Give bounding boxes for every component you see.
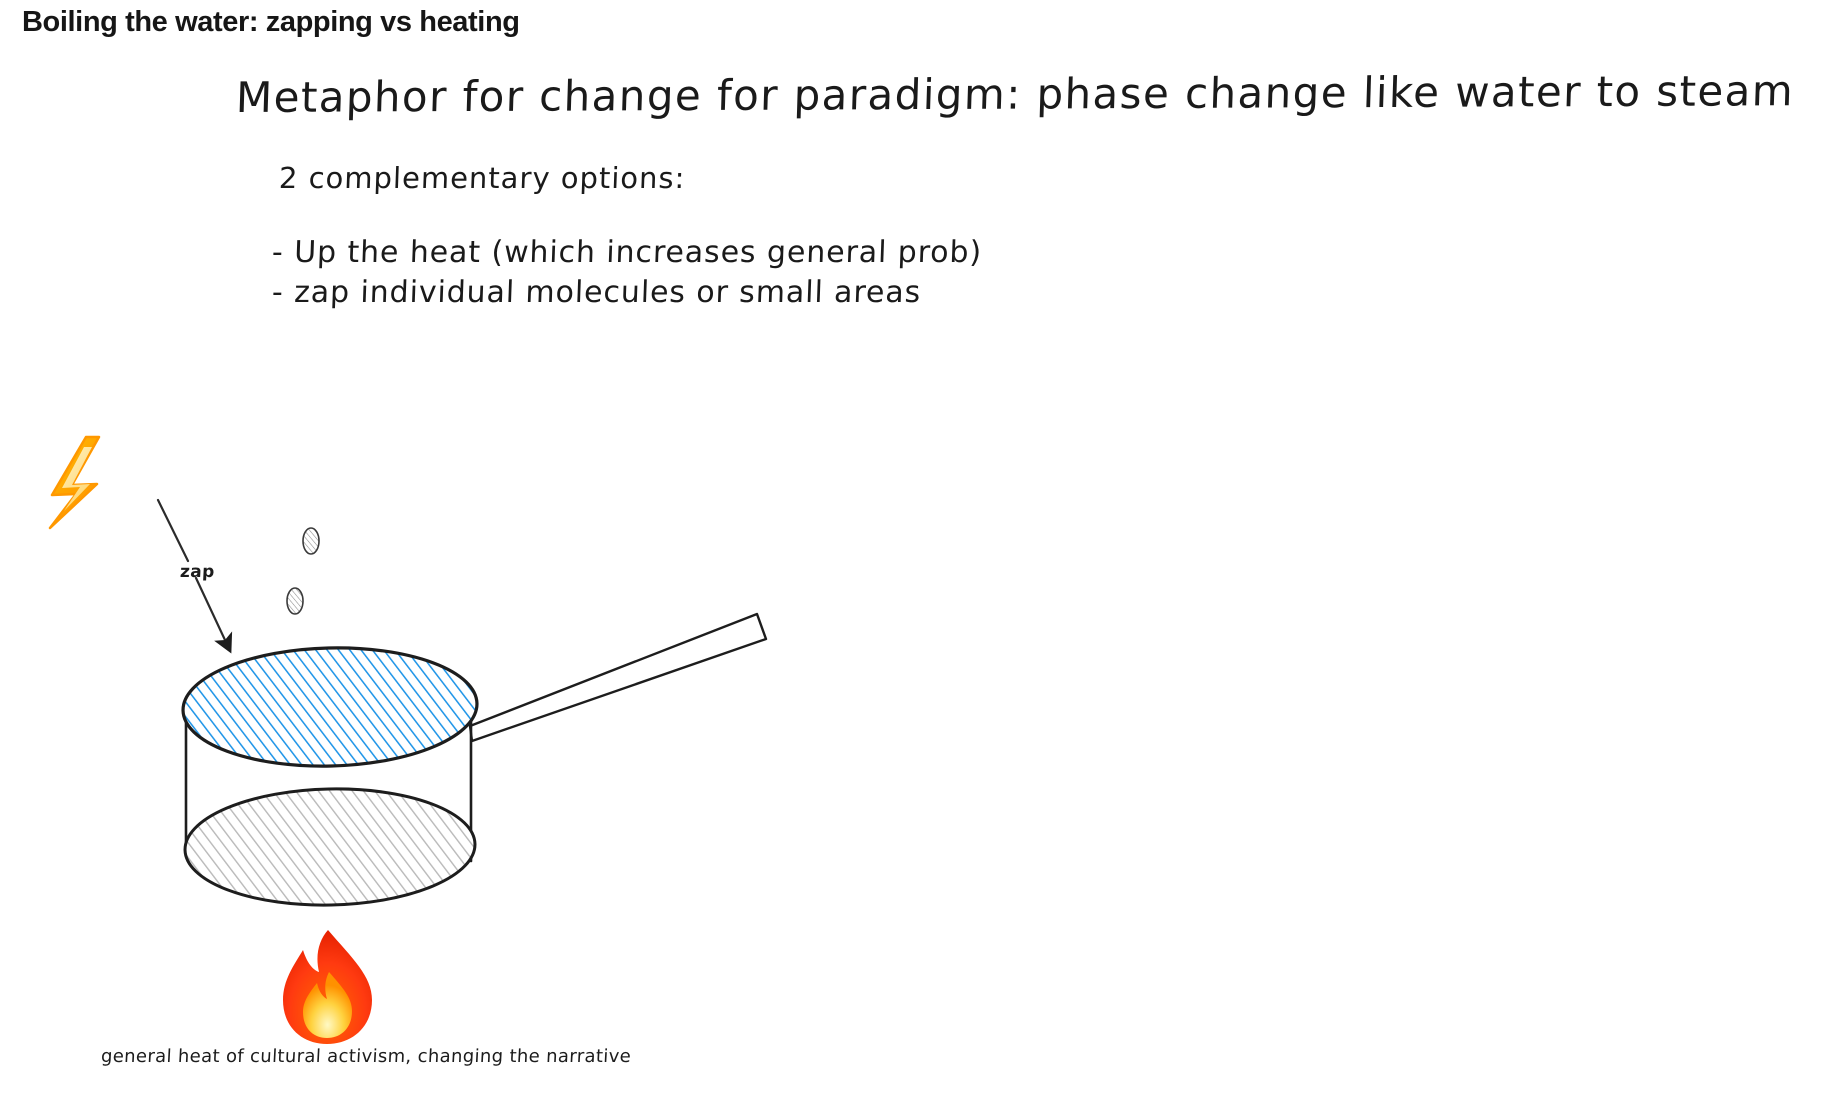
slide-canvas: Boiling the water: zapping vs heating Me… — [0, 0, 1832, 1112]
fire-icon — [283, 930, 372, 1044]
list-item: - Up the heat (which increases general p… — [271, 233, 982, 273]
diagram-caption: general heat of cultural activism, chang… — [100, 1046, 631, 1067]
pot-base — [184, 786, 476, 908]
zap-label: zap — [179, 562, 215, 582]
pot-handle — [470, 614, 766, 741]
water-surface — [182, 644, 479, 769]
bubble-upper — [303, 528, 319, 554]
page-title: Boiling the water: zapping vs heating — [22, 6, 520, 39]
bullet-list: - Up the heat (which increases general p… — [272, 233, 982, 312]
lightning-bolt-icon — [50, 437, 99, 528]
pot-body — [182, 644, 479, 908]
headline-text: Metaphor for change for paradigm: phase … — [235, 66, 1795, 122]
subhead-text: 2 complementary options: — [278, 161, 686, 195]
list-item: - zap individual molecules or small area… — [271, 273, 982, 313]
diagram-canvas — [0, 0, 1832, 1112]
bubble-lower — [287, 588, 303, 614]
